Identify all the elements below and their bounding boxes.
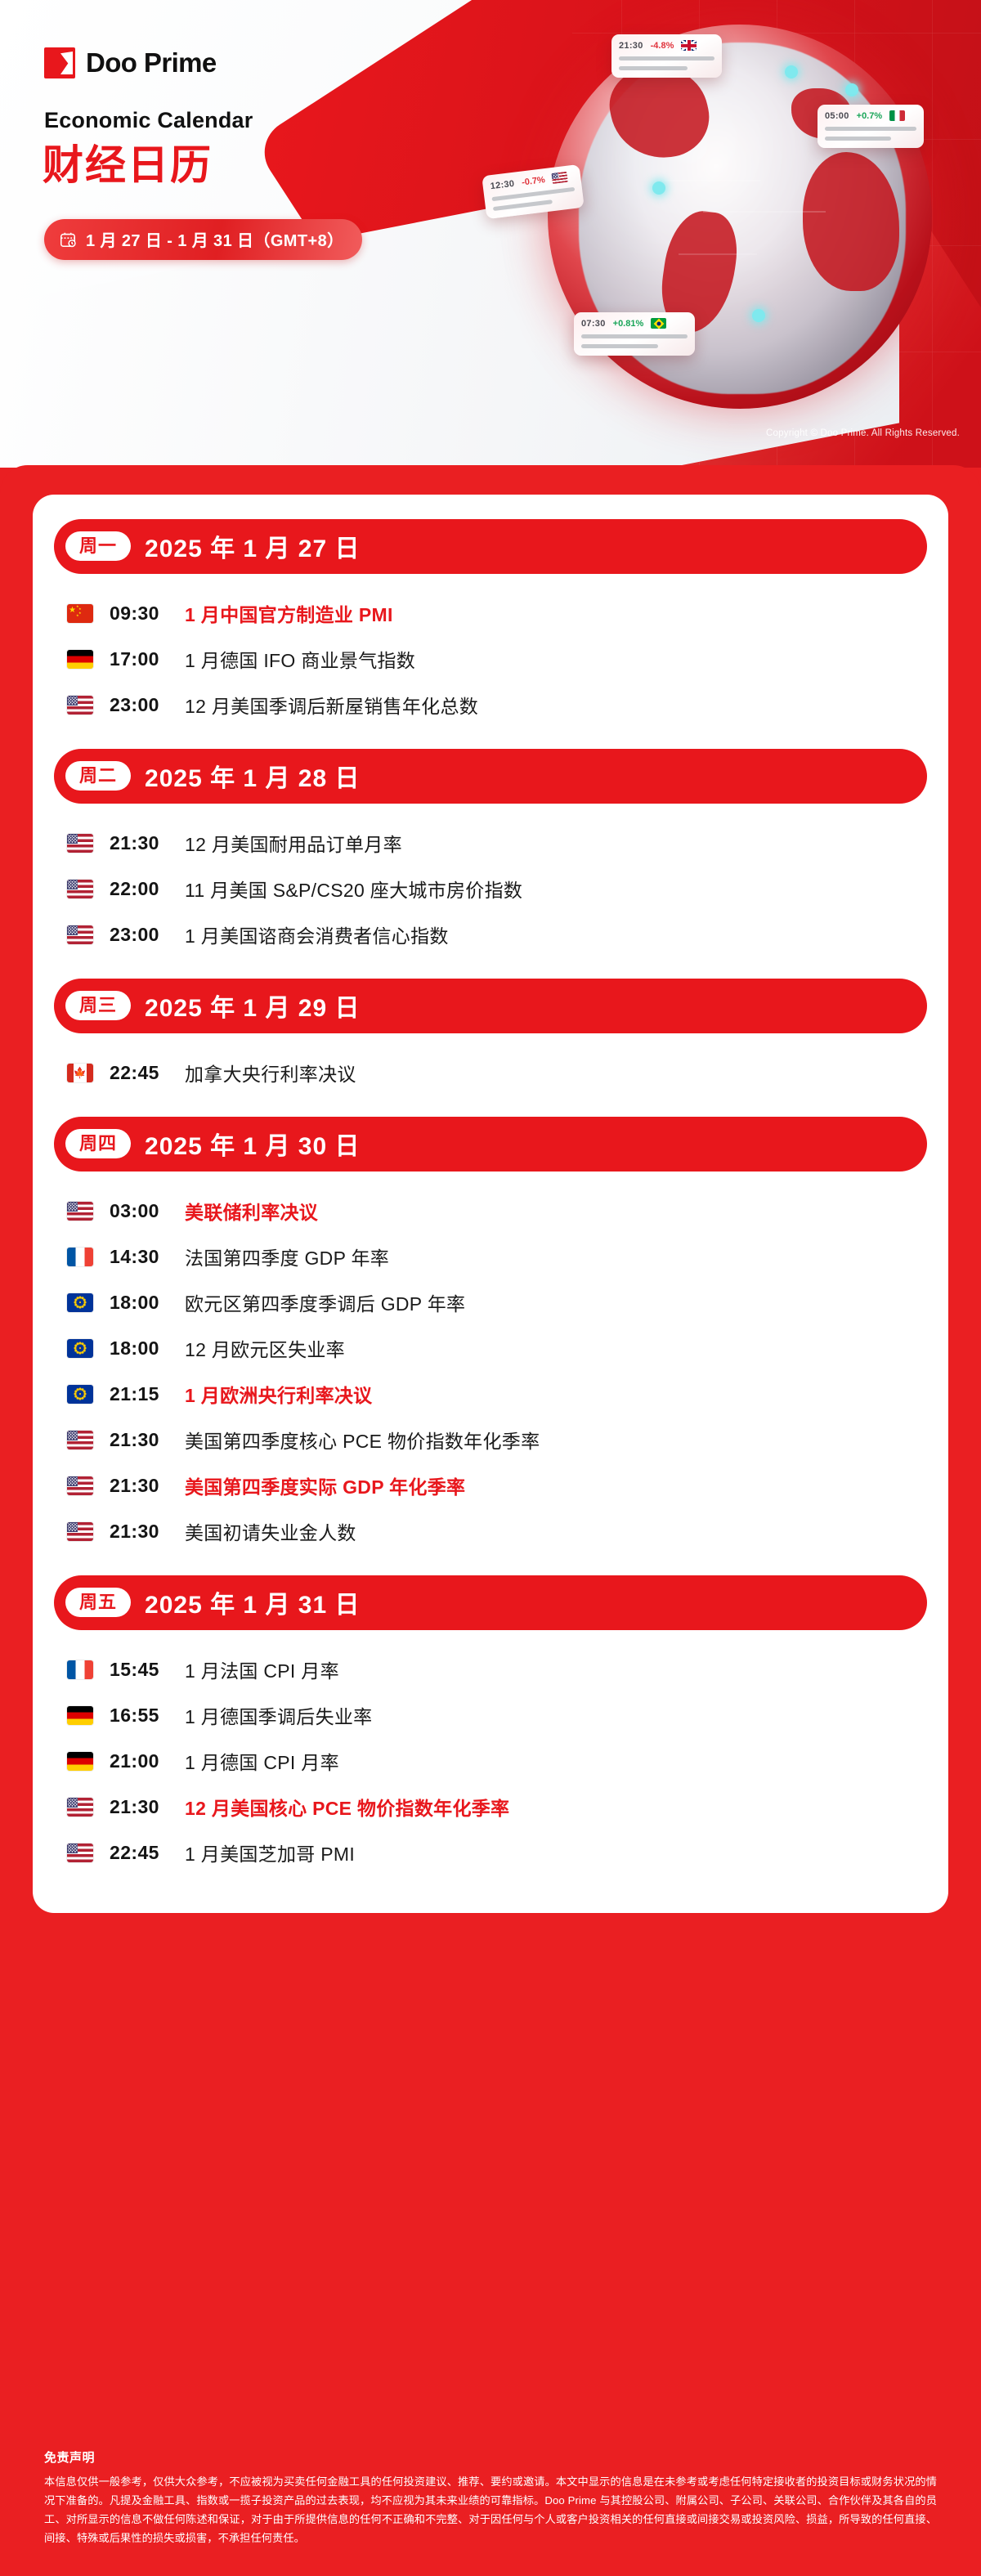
quote-change: -4.8%: [651, 41, 674, 51]
event-time: 15:45: [110, 1659, 185, 1681]
event-title: 12 月欧元区失业率: [185, 1334, 345, 1362]
event-row[interactable]: 21:3012 月美国耐用品订单月率: [67, 820, 919, 866]
flag-us-icon: [67, 834, 93, 853]
disclaimer-text: 本信息仅供一般参考，仅供大众参考，不应被视为买卖任何金融工具的任何投资建议、推荐…: [44, 2473, 937, 2548]
day-header: 周一2025 年 1 月 27 日: [54, 519, 927, 574]
flag-us-icon: [67, 1522, 93, 1541]
event-time: 23:00: [110, 924, 185, 946]
event-row[interactable]: 21:001 月德国 CPI 月率: [67, 1738, 919, 1784]
flag-ca-icon: 🍁: [67, 1064, 93, 1082]
event-row[interactable]: 18:0012 月欧元区失业率: [67, 1325, 919, 1371]
flag-de-icon: [67, 1752, 93, 1771]
event-title: 11 月美国 S&P/CS20 座大城市房价指数: [185, 875, 522, 903]
globe-graphic: [515, 0, 973, 450]
day-date-label: 2025 年 1 月 29 日: [145, 988, 360, 1024]
event-title: 美国第四季度实际 GDP 年化季率: [185, 1472, 465, 1499]
event-time: 18:00: [110, 1292, 185, 1314]
disclaimer-title: 免责声明: [44, 2448, 937, 2466]
event-row[interactable]: 16:551 月德国季调后失业率: [67, 1692, 919, 1738]
event-time: 22:45: [110, 1062, 185, 1084]
day-date-label: 2025 年 1 月 28 日: [145, 758, 360, 794]
flag-it-icon: [889, 110, 905, 121]
quote-time: 12:30: [490, 178, 515, 191]
floating-quote-card: 05:00 +0.7%: [817, 105, 924, 148]
event-row[interactable]: 14:30法国第四季度 GDP 年率: [67, 1234, 919, 1279]
page-title-en: Economic Calendar: [44, 108, 253, 133]
event-list: 03:00美联储利率决议14:30法国第四季度 GDP 年率18:00欧元区第四…: [54, 1183, 927, 1559]
flag-eu-icon: [67, 1385, 93, 1404]
globe-node: [752, 309, 765, 322]
event-title: 1 月德国季调后失业率: [185, 1701, 372, 1729]
flag-de-icon: [67, 650, 93, 669]
event-time: 21:00: [110, 1750, 185, 1772]
quote-change: +0.7%: [857, 111, 883, 121]
tech-line: [703, 211, 826, 213]
day-date-label: 2025 年 1 月 27 日: [145, 528, 360, 564]
date-range-badge[interactable]: 1 月 27 日 - 1 月 31 日（GMT+8）: [44, 219, 362, 260]
flag-us-icon: [67, 1798, 93, 1817]
event-list: 21:3012 月美国耐用品订单月率22:0011 月美国 S&P/CS20 座…: [54, 815, 927, 962]
quote-time: 21:30: [619, 41, 643, 51]
event-time: 21:30: [110, 1521, 185, 1543]
event-row[interactable]: 23:001 月美国谘商会消费者信心指数: [67, 912, 919, 957]
event-time: 21:15: [110, 1383, 185, 1405]
event-list: 🍁22:45加拿大央行利率决议: [54, 1045, 927, 1100]
flag-eu-icon: [67, 1293, 93, 1312]
event-time: 21:30: [110, 832, 185, 854]
flag-us-icon: [67, 1202, 93, 1221]
flag-us-icon: [67, 1844, 93, 1862]
event-title: 1 月美国芝加哥 PMI: [185, 1839, 355, 1866]
event-row[interactable]: 21:30美国初请失业金人数: [67, 1508, 919, 1554]
event-time: 22:00: [110, 878, 185, 900]
tech-line: [679, 253, 757, 255]
day-of-week-badge: 周一: [65, 531, 131, 561]
quote-placeholder-bar: [493, 199, 553, 211]
event-time: 09:30: [110, 603, 185, 625]
event-title: 1 月欧洲央行利率决议: [185, 1380, 372, 1408]
doo-prime-mark-icon: [44, 47, 75, 78]
event-row[interactable]: ★★★★★09:301 月中国官方制造业 PMI: [67, 590, 919, 636]
event-row[interactable]: 🍁22:45加拿大央行利率决议: [67, 1050, 919, 1095]
globe-node: [845, 83, 858, 96]
day-date-label: 2025 年 1 月 31 日: [145, 1584, 360, 1620]
flag-br-icon: [651, 318, 666, 329]
flag-us-icon: [67, 1431, 93, 1449]
floating-quote-card: 21:30 -4.8%: [611, 34, 722, 78]
quote-placeholder-bar: [619, 56, 714, 60]
event-time: 03:00: [110, 1200, 185, 1222]
event-time: 21:30: [110, 1475, 185, 1497]
flag-de-icon: [67, 1706, 93, 1725]
day-of-week-badge: 周四: [65, 1129, 131, 1158]
event-title: 1 月美国谘商会消费者信心指数: [185, 921, 449, 948]
day-of-week-badge: 周二: [65, 761, 131, 791]
event-row[interactable]: 15:451 月法国 CPI 月率: [67, 1646, 919, 1692]
tech-line: [662, 180, 760, 181]
quote-placeholder-bar: [619, 66, 688, 70]
event-title: 12 月美国核心 PCE 物价指数年化季率: [185, 1793, 509, 1821]
event-title: 1 月法国 CPI 月率: [185, 1655, 339, 1683]
event-title: 1 月中国官方制造业 PMI: [185, 599, 393, 627]
event-list: 15:451 月法国 CPI 月率16:551 月德国季调后失业率21:001 …: [54, 1642, 927, 1880]
event-row[interactable]: 22:451 月美国芝加哥 PMI: [67, 1830, 919, 1875]
day-header: 周二2025 年 1 月 28 日: [54, 749, 927, 804]
flag-us-icon: [552, 172, 568, 184]
flag-fr-icon: [67, 1660, 93, 1679]
event-row[interactable]: 17:001 月德国 IFO 商业景气指数: [67, 636, 919, 682]
calendar-body: 周一2025 年 1 月 27 日★★★★★09:301 月中国官方制造业 PM…: [0, 465, 981, 2427]
date-range-label: 1 月 27 日 - 1 月 31 日（GMT+8）: [86, 227, 344, 251]
globe-node: [652, 181, 665, 195]
flag-cn-icon: ★★★★★: [67, 604, 93, 623]
event-time: 21:30: [110, 1429, 185, 1451]
event-time: 18:00: [110, 1337, 185, 1360]
event-row[interactable]: 21:151 月欧洲央行利率决议: [67, 1371, 919, 1417]
copyright-notice: Copyright © Doo Prime. All Rights Reserv…: [766, 428, 960, 438]
event-time: 23:00: [110, 694, 185, 716]
day-header: 周四2025 年 1 月 30 日: [54, 1117, 927, 1172]
quote-change: -0.7%: [521, 175, 545, 187]
event-row[interactable]: 21:30美国第四季度核心 PCE 物价指数年化季率: [67, 1417, 919, 1463]
event-row[interactable]: 03:00美联储利率决议: [67, 1188, 919, 1234]
flag-us-icon: [67, 696, 93, 715]
event-title: 12 月美国耐用品订单月率: [185, 829, 402, 857]
brand-name: Doo Prime: [86, 47, 217, 78]
event-title: 法国第四季度 GDP 年率: [185, 1243, 389, 1270]
event-row[interactable]: 21:30美国第四季度实际 GDP 年化季率: [67, 1463, 919, 1508]
event-list: ★★★★★09:301 月中国官方制造业 PMI17:001 月德国 IFO 商…: [54, 585, 927, 732]
event-title: 美联储利率决议: [185, 1197, 318, 1225]
quote-placeholder-bar: [825, 137, 891, 141]
event-row[interactable]: 22:0011 月美国 S&P/CS20 座大城市房价指数: [67, 866, 919, 912]
event-title: 美国初请失业金人数: [185, 1517, 356, 1545]
flag-us-icon: [67, 925, 93, 944]
event-time: 22:45: [110, 1842, 185, 1864]
page-header: 21:30 -4.8% 05:00 +0.7% 12:30 -0.7% 07:3…: [0, 0, 981, 468]
event-title: 欧元区第四季度季调后 GDP 年率: [185, 1288, 465, 1316]
day-header: 周三2025 年 1 月 29 日: [54, 979, 927, 1033]
quote-placeholder-bar: [581, 344, 658, 348]
event-row[interactable]: 21:3012 月美国核心 PCE 物价指数年化季率: [67, 1784, 919, 1830]
quote-placeholder-bar: [581, 334, 688, 338]
quote-time: 05:00: [825, 111, 849, 121]
floating-quote-card: 07:30 +0.81%: [574, 312, 695, 356]
calendar-clock-icon: [59, 231, 77, 249]
event-title: 1 月德国 IFO 商业景气指数: [185, 645, 415, 673]
event-title: 加拿大央行利率决议: [185, 1059, 356, 1086]
brand-logo[interactable]: Doo Prime: [44, 47, 217, 78]
day-of-week-badge: 周三: [65, 991, 131, 1020]
quote-change: +0.81%: [613, 319, 644, 329]
event-time: 14:30: [110, 1246, 185, 1268]
event-time: 16:55: [110, 1705, 185, 1727]
day-of-week-badge: 周五: [65, 1588, 131, 1617]
event-time: 17:00: [110, 648, 185, 670]
flag-us-icon: [67, 880, 93, 898]
quote-time: 07:30: [581, 319, 606, 329]
calendar-card: 周一2025 年 1 月 27 日★★★★★09:301 月中国官方制造业 PM…: [33, 495, 948, 1913]
page-title-cn: 财经日历: [43, 144, 213, 187]
disclaimer-footer: 免责声明 本信息仅供一般参考，仅供大众参考，不应被视为买卖任何金融工具的任何投资…: [0, 2427, 981, 2576]
flag-fr-icon: [67, 1248, 93, 1266]
quote-placeholder-bar: [825, 127, 916, 131]
day-header: 周五2025 年 1 月 31 日: [54, 1575, 927, 1630]
event-title: 美国第四季度核心 PCE 物价指数年化季率: [185, 1426, 540, 1454]
event-time: 21:30: [110, 1796, 185, 1818]
flag-gb-icon: [681, 40, 697, 51]
flag-eu-icon: [67, 1339, 93, 1358]
event-title: 12 月美国季调后新屋销售年化总数: [185, 691, 478, 719]
event-row[interactable]: 23:0012 月美国季调后新屋销售年化总数: [67, 682, 919, 728]
event-row[interactable]: 18:00欧元区第四季度季调后 GDP 年率: [67, 1279, 919, 1325]
event-title: 1 月德国 CPI 月率: [185, 1747, 339, 1775]
day-date-label: 2025 年 1 月 30 日: [145, 1126, 360, 1162]
flag-us-icon: [67, 1476, 93, 1495]
globe-node: [785, 65, 798, 78]
